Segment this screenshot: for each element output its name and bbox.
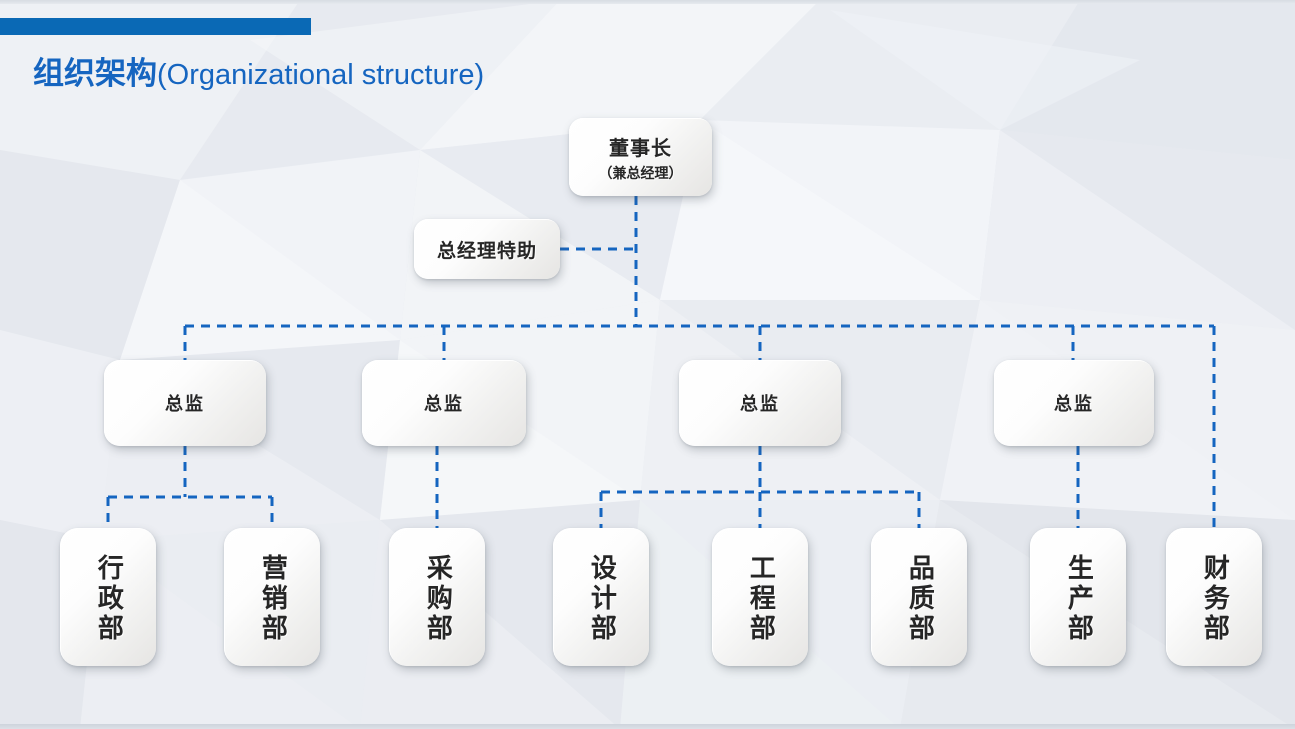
node-dept-administration[interactable]: 行政部 <box>60 528 156 666</box>
node-director-1[interactable]: 总监 <box>104 360 266 446</box>
node-dept-administration-label: 行政部 <box>93 554 124 644</box>
node-director-2[interactable]: 总监 <box>362 360 526 446</box>
node-dept-engineering-label: 工程部 <box>745 554 776 644</box>
node-dept-marketing-label: 营销部 <box>257 554 288 644</box>
node-dept-finance[interactable]: 财务部 <box>1166 528 1262 666</box>
node-assistant-label: 总经理特助 <box>437 236 537 263</box>
slide-canvas: 组织架构(Organizational structure) <box>0 0 1295 729</box>
node-dept-design[interactable]: 设计部 <box>553 528 649 666</box>
node-dept-procurement[interactable]: 采购部 <box>389 528 485 666</box>
node-dept-finance-label: 财务部 <box>1199 554 1230 644</box>
node-dept-design-label: 设计部 <box>586 554 617 644</box>
node-chairman-sublabel: （兼总经理） <box>599 163 683 183</box>
node-director-3-label: 总监 <box>740 390 780 416</box>
node-chairman[interactable]: 董事长 （兼总经理） <box>569 118 712 196</box>
node-dept-procurement-label: 采购部 <box>422 554 453 644</box>
node-dept-production[interactable]: 生产部 <box>1030 528 1126 666</box>
node-chairman-label: 董事长 <box>609 132 672 161</box>
node-assistant[interactable]: 总经理特助 <box>414 219 560 279</box>
node-director-1-label: 总监 <box>165 390 205 416</box>
node-dept-marketing[interactable]: 营销部 <box>224 528 320 666</box>
node-director-4[interactable]: 总监 <box>994 360 1154 446</box>
node-dept-engineering[interactable]: 工程部 <box>712 528 808 666</box>
node-dept-quality[interactable]: 品质部 <box>871 528 967 666</box>
node-dept-production-label: 生产部 <box>1063 554 1094 644</box>
node-director-2-label: 总监 <box>424 390 464 416</box>
node-director-4-label: 总监 <box>1054 390 1094 416</box>
node-dept-quality-label: 品质部 <box>904 554 935 644</box>
node-director-3[interactable]: 总监 <box>679 360 841 446</box>
